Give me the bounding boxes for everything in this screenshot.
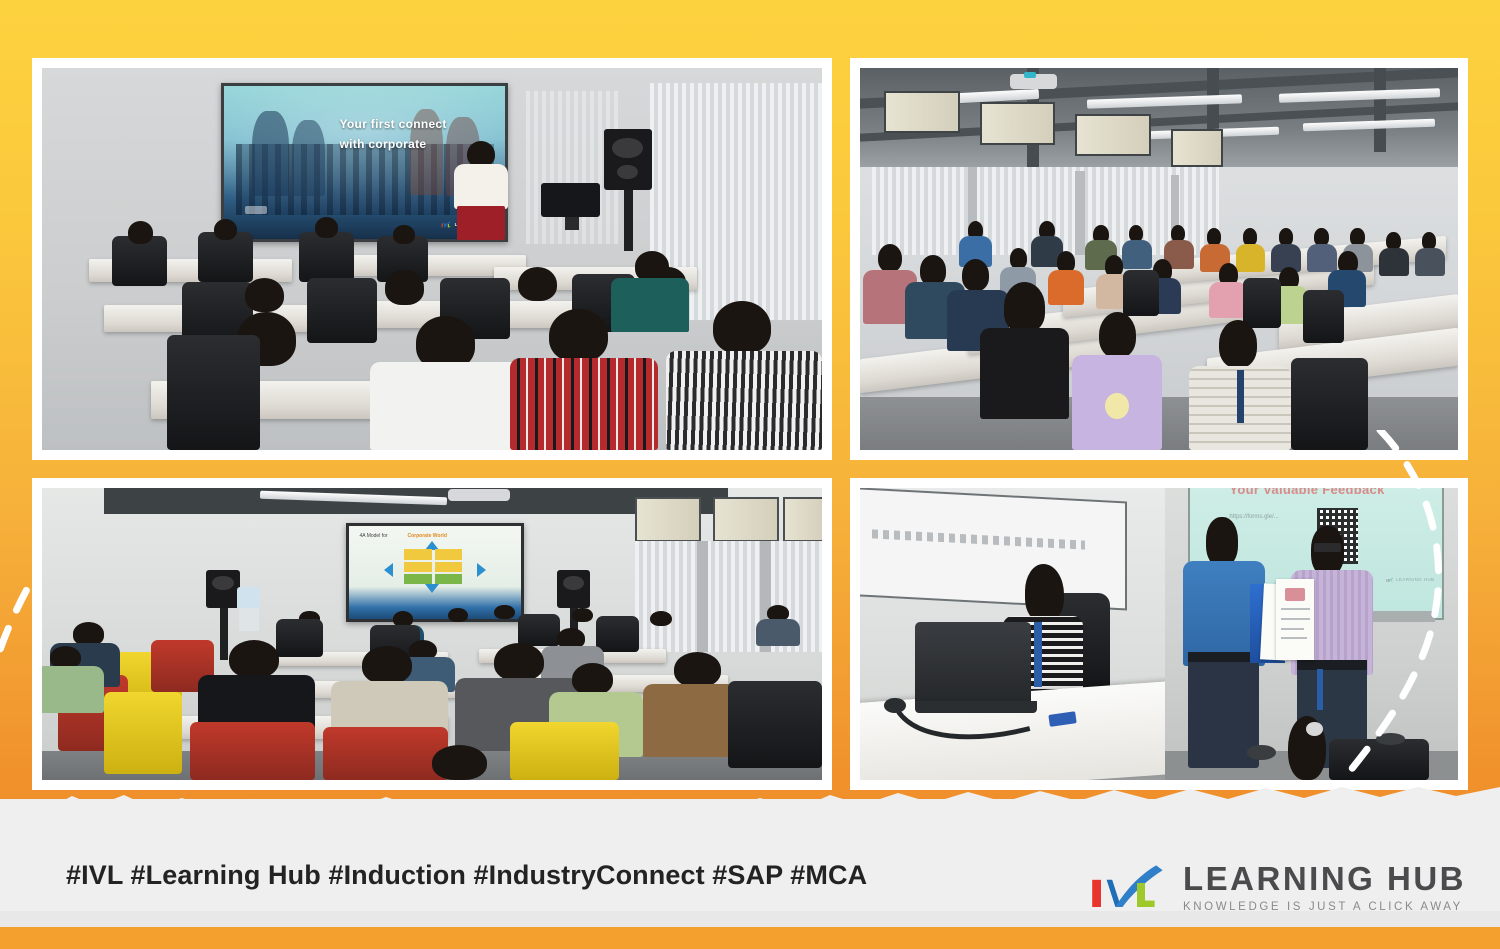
photo-top-right bbox=[860, 68, 1458, 450]
slide-logo-mark-icon-br bbox=[1386, 576, 1394, 584]
slide-title-bottom-right: Your Valuable Feedback bbox=[1229, 488, 1384, 497]
photo-card-top-right[interactable] bbox=[850, 58, 1468, 460]
poster-canvas: Your first connect with corporate LEARNI… bbox=[0, 0, 1500, 949]
cable-icon bbox=[890, 701, 1058, 748]
caption-hashtags: #IVL #Learning Hub #Induction #IndustryC… bbox=[66, 860, 867, 891]
slide-title-accent-bottom-left: Corporate World bbox=[408, 533, 447, 539]
photo-card-bottom-left[interactable]: 4A Model for Corporate World bbox=[32, 478, 832, 790]
slide-title-bottom-left: 4A Model for bbox=[359, 533, 387, 539]
bottom-accent-strip bbox=[0, 927, 1500, 949]
torn-paper-edge-icon bbox=[0, 787, 1500, 821]
photo-bottom-left: 4A Model for Corporate World bbox=[42, 488, 822, 780]
certificate-icon bbox=[1276, 579, 1314, 661]
slide-link-bottom-right: https://forms.gle/... bbox=[1229, 514, 1278, 520]
slide-logo-mark-icon bbox=[441, 219, 452, 230]
sheet-shadow-strip bbox=[0, 911, 1500, 927]
slide-subtitle-top-left: with corporate bbox=[340, 137, 427, 151]
slide-title-top-left: Your first connect bbox=[340, 117, 447, 131]
logo-tagline: KNOWLEDGE IS JUST A CLICK AWAY bbox=[1183, 902, 1466, 914]
photo-grid: Your first connect with corporate LEARNI… bbox=[32, 58, 1468, 790]
photo-top-left: Your first connect with corporate LEARNI… bbox=[42, 68, 822, 450]
ivl-logo-mark-icon bbox=[1089, 863, 1169, 911]
brand-logo: LEARNING HUB KNOWLEDGE IS JUST A CLICK A… bbox=[1089, 862, 1466, 914]
photo-bottom-right: Your Valuable Feedback https://forms.gle… bbox=[860, 488, 1458, 780]
logo-title: LEARNING HUB bbox=[1183, 862, 1466, 895]
photo-card-bottom-right[interactable]: Your Valuable Feedback https://forms.gle… bbox=[850, 478, 1468, 790]
slide-logo-text-bottom-right: LEARNING HUB bbox=[1396, 577, 1435, 582]
photo-card-top-left[interactable]: Your first connect with corporate LEARNI… bbox=[32, 58, 832, 460]
